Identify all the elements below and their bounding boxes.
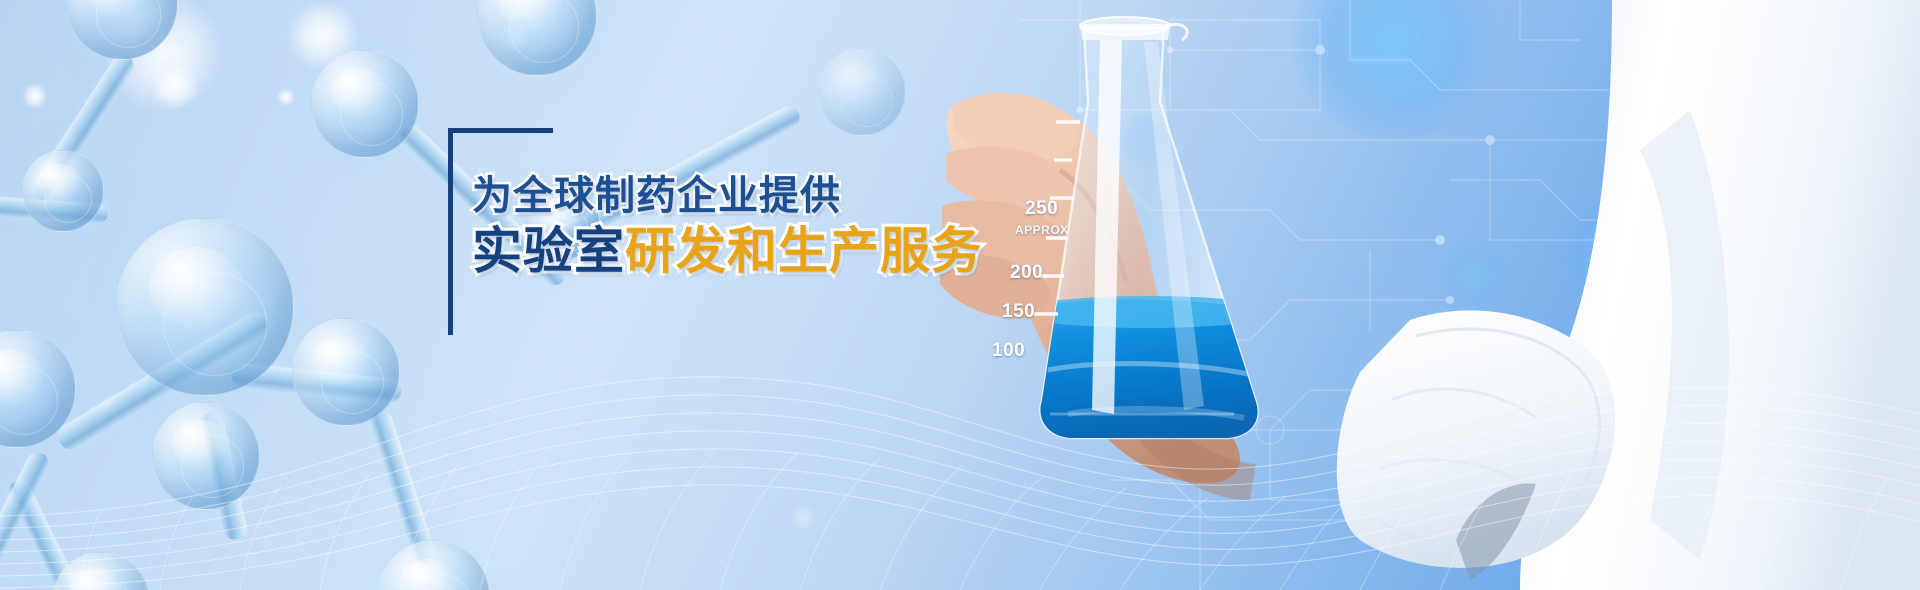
flask-tick-approx: APPROX (1015, 223, 1069, 237)
headline-line-2: 实验室研发和生产服务 (472, 223, 982, 279)
headline-block: 为全球制药企业提供 实验室研发和生产服务 (448, 128, 968, 333)
headline-text: 为全球制药企业提供 实验室研发和生产服务 (472, 174, 982, 279)
wireframe-mesh-wave (0, 340, 1920, 590)
headline-line-2-primary: 实验室 (472, 222, 625, 280)
flask-tick-250: 250 (1025, 198, 1058, 220)
hero-banner: 250 APPROX 200 150 100 (0, 0, 1920, 590)
headline-line-2-accent: 研发和生产服务 (625, 222, 982, 280)
flask-tick-200: 200 (1010, 262, 1043, 284)
headline-line-1: 为全球制药企业提供 (472, 174, 982, 219)
flask-tick-150: 150 (1002, 301, 1035, 323)
